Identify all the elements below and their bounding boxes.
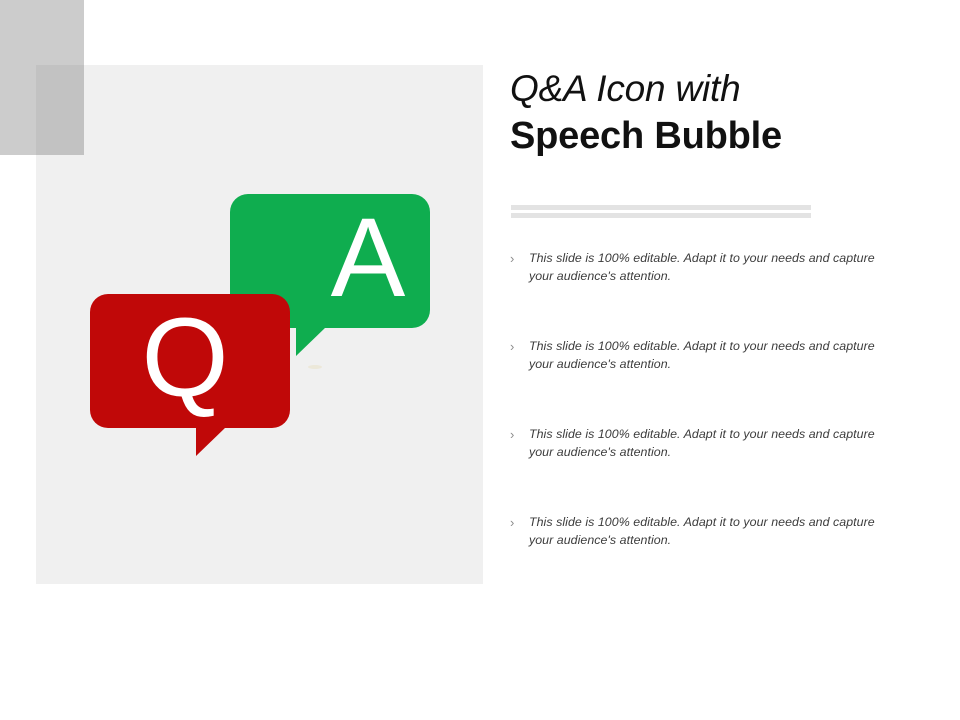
chevron-right-icon: › — [510, 426, 514, 443]
chevron-right-icon: › — [510, 514, 514, 531]
slide-canvas: A Q Q&A Icon with Speech Bubble › This s… — [0, 0, 960, 720]
divider-rule-top — [511, 205, 811, 210]
page-title-line-1: Q&A Icon with — [510, 66, 910, 112]
title-divider — [511, 205, 811, 218]
answer-bubble-tail-icon — [296, 327, 326, 356]
qa-speech-bubbles-graphic: A Q — [36, 65, 483, 584]
divider-rule-bottom — [511, 213, 811, 218]
list-item[interactable]: › This slide is 100% editable. Adapt it … — [510, 337, 890, 373]
bullet-list: › This slide is 100% editable. Adapt it … — [510, 249, 890, 549]
content-column: Q&A Icon with Speech Bubble › This slide… — [510, 0, 910, 720]
question-bubble-letter: Q — [85, 291, 285, 425]
list-item-text: This slide is 100% editable. Adapt it to… — [529, 515, 875, 547]
list-item-text: This slide is 100% editable. Adapt it to… — [529, 339, 875, 371]
chevron-right-icon: › — [510, 338, 514, 355]
chevron-right-icon: › — [510, 250, 514, 267]
page-title: Q&A Icon with Speech Bubble — [510, 66, 910, 160]
list-item[interactable]: › This slide is 100% editable. Adapt it … — [510, 425, 890, 461]
list-item-text: This slide is 100% editable. Adapt it to… — [529, 251, 875, 283]
list-item[interactable]: › This slide is 100% editable. Adapt it … — [510, 249, 890, 285]
answer-bubble-letter: A — [268, 191, 468, 325]
tail-artifact-speck — [308, 365, 322, 369]
question-speech-bubble: Q — [90, 294, 290, 428]
list-item[interactable]: › This slide is 100% editable. Adapt it … — [510, 513, 890, 549]
question-bubble-tail-icon — [196, 427, 226, 456]
list-item-text: This slide is 100% editable. Adapt it to… — [529, 427, 875, 459]
page-title-line-2: Speech Bubble — [510, 112, 910, 160]
